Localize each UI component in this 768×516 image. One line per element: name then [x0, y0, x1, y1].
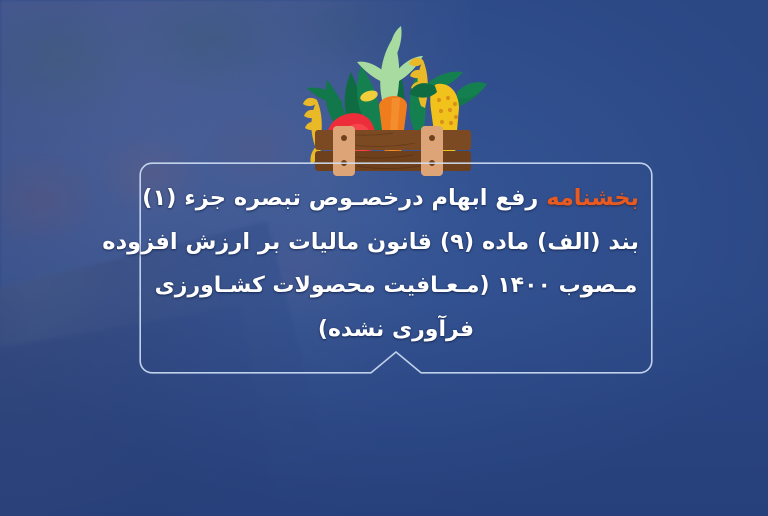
- headline-line-2: بند (الف) ماده (۹) قانون مالیات بر ارزش …: [153, 220, 639, 264]
- headline-line-4: فرآوری نشده): [153, 308, 639, 352]
- headline-keyword: بخشنامه: [546, 185, 639, 211]
- vegetable-crate-illustration: [297, 14, 487, 176]
- headline-line-1: بخشنامه رفع ابهام درخصـوص تبصره جزء (۱): [153, 176, 639, 220]
- headline-line-3: مـصوب ۱۴۰۰ (مـعـافیت محصولات کشـاورزی: [153, 264, 639, 308]
- announcement-card: بخشنامه رفع ابهام درخصـوص تبصره جزء (۱) …: [139, 162, 653, 374]
- headline-line-1-rest: رفع ابهام درخصـوص تبصره جزء (۱): [142, 185, 546, 211]
- banner-stage: بخشنامه رفع ابهام درخصـوص تبصره جزء (۱) …: [0, 0, 768, 516]
- card-text-block: بخشنامه رفع ابهام درخصـوص تبصره جزء (۱) …: [139, 176, 653, 352]
